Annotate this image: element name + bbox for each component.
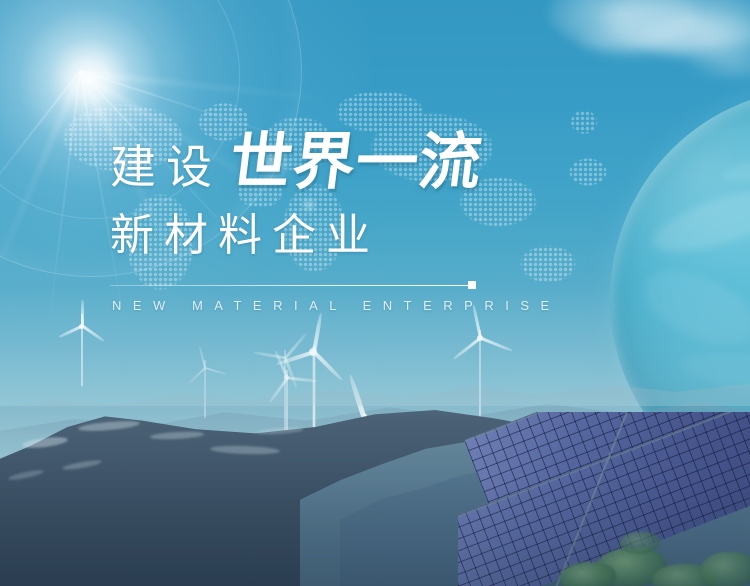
hero-banner: 建设 世界一流 新材料企业 NEW MATERIAL ENTERPRISE: [0, 0, 750, 586]
divider-end-square: [468, 281, 476, 289]
headline-bold-text: 世界一流: [226, 132, 486, 194]
divider-line: [110, 285, 468, 286]
subtitle: NEW MATERIAL ENTERPRISE: [112, 298, 561, 313]
bottom-shadow: [0, 476, 750, 586]
landscape-scene: [0, 286, 750, 586]
divider: [110, 281, 476, 290]
headline-line-2: 新材料企业: [110, 214, 670, 258]
headline-block: 建设 世界一流 新材料企业: [110, 132, 670, 258]
headline-light-text: 建设: [110, 144, 222, 190]
headline-line-1: 建设 世界一流: [110, 132, 670, 206]
